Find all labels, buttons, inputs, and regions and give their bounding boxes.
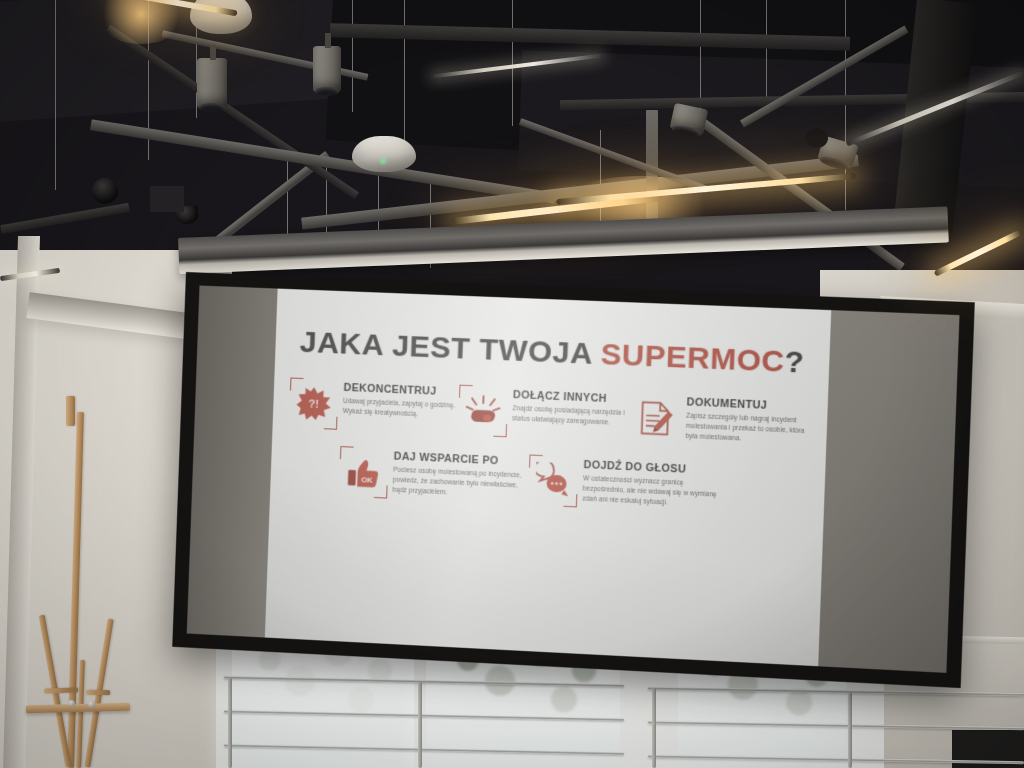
- burst-question-exclaim-icon: ?!: [289, 377, 339, 429]
- whistle-shape: [465, 392, 501, 430]
- thumbs-up-shape: OK: [346, 453, 382, 491]
- screen-surface: JAKA JEST TWOJA SUPERMOC? ?!: [187, 286, 960, 673]
- thumbs-up-ok-icon: OK: [339, 446, 389, 499]
- card-title: DOŁĄCZ INNYCH: [513, 389, 632, 406]
- speech-bubbles-shape: [535, 462, 571, 500]
- screen-unlit-margin: [187, 286, 278, 638]
- railing-post: [228, 678, 232, 768]
- spotlight-head-icon: [806, 128, 828, 148]
- slide-title-lead: JAKA JEST TWOJA: [299, 326, 601, 372]
- svg-text:OK: OK: [361, 475, 373, 485]
- room-scene: JAKA JEST TWOJA SUPERMOC? ?!: [0, 0, 1024, 768]
- presentation-slide: JAKA JEST TWOJA SUPERMOC? ?!: [265, 289, 831, 667]
- slide-title-question-mark: ?: [784, 345, 805, 380]
- railing-post: [652, 688, 656, 768]
- document-pencil-icon: [630, 392, 681, 445]
- card-dolacz-innych: DOŁĄCZ INNYCH Znajdź osobę posiadającą n…: [457, 385, 632, 443]
- ceiling-sensor-icon: [352, 136, 416, 172]
- whistle-icon: [457, 385, 508, 438]
- slide-title: JAKA JEST TWOJA SUPERMOC?: [291, 325, 813, 381]
- railing-post: [848, 692, 852, 768]
- track-spotlight-icon: [197, 58, 227, 108]
- screen-frame: JAKA JEST TWOJA SUPERMOC? ?!: [172, 272, 975, 688]
- railing-post: [418, 682, 422, 768]
- svg-text:?!: ?!: [308, 399, 319, 412]
- card-text: Pociesz osobę molestowaną po incydencie,…: [392, 466, 529, 503]
- card-dekoncentruj: ?! DEKONCENTRUJ Udawaj przyjaciela, zapy…: [289, 377, 460, 435]
- card-dojdz-do-glosu: DOJDŹ DO GŁOSU W ostateczności wyznacz g…: [528, 455, 728, 515]
- card-title: DOKUMENTUJ: [686, 396, 811, 414]
- track-spotlight-icon: [313, 46, 341, 92]
- track-spotlight-icon: [670, 103, 709, 136]
- slide-row-one: ?! DEKONCENTRUJ Udawaj przyjaciela, zapy…: [289, 377, 812, 450]
- ceiling-camera-icon: [92, 178, 118, 204]
- card-title: DEKONCENTRUJ: [343, 382, 459, 399]
- document-pencil-shape: [638, 399, 674, 437]
- card-text: Znajdź osobę posiadającą narzędzia i sta…: [512, 404, 632, 430]
- card-dokumentuj: DOKUMENTUJ Zapisz szczegóły lub nagraj i…: [630, 392, 811, 451]
- slide-row-two: OK DAJ WSPARCIE PO Pociesz osobę molesto…: [286, 444, 809, 518]
- burst-shape: ?!: [296, 385, 332, 423]
- ceiling-box-icon: [150, 186, 184, 212]
- card-text: Zapisz szczegóły lub nagraj incydent mol…: [685, 412, 810, 448]
- slide-title-highlight: SUPERMOC: [600, 338, 785, 379]
- projection-screen: JAKA JEST TWOJA SUPERMOC? ?!: [172, 272, 953, 675]
- card-text: Udawaj przyjaciela, zapytaj o godzinę. W…: [343, 397, 459, 422]
- card-daj-wsparcie-po: OK DAJ WSPARCIE PO Pociesz osobę molesto…: [339, 446, 530, 505]
- speech-bubbles-icon: [528, 455, 579, 508]
- card-text: W ostateczności wyznacz granicę bezpośre…: [582, 474, 727, 511]
